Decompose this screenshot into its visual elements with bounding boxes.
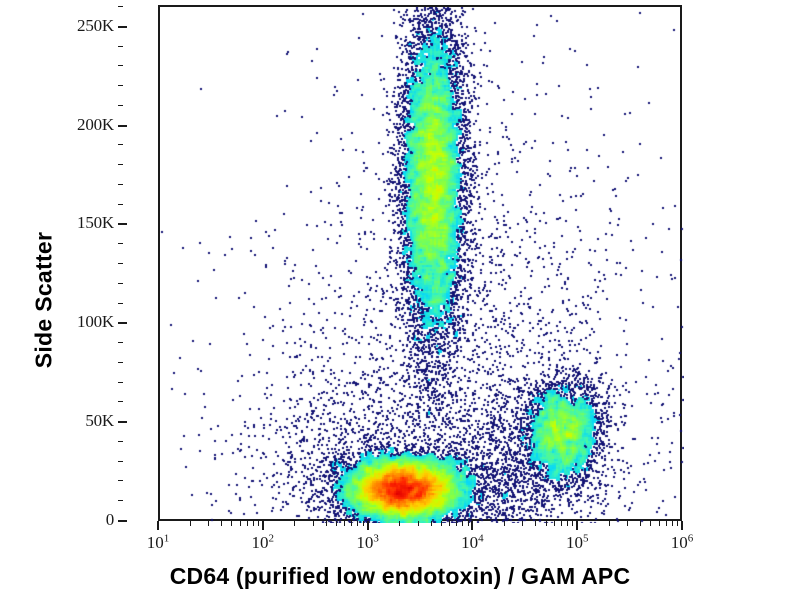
x-tick-mark <box>627 521 628 526</box>
x-tick-mark <box>399 521 400 526</box>
y-axis-label: Side Scatter <box>31 232 58 369</box>
x-tick-mark <box>253 521 254 526</box>
y-tick-mark <box>118 125 127 127</box>
y-tick-mark <box>118 461 123 462</box>
x-tick-mark <box>240 521 241 526</box>
x-tick-mark <box>576 521 578 530</box>
x-tick-mark <box>567 521 568 526</box>
x-tick-mark <box>344 521 345 526</box>
y-tick-label: 100K <box>77 312 114 332</box>
scatter-canvas <box>160 7 684 523</box>
y-tick-mark <box>118 421 127 423</box>
x-tick-mark <box>677 521 678 526</box>
y-tick-mark <box>118 322 127 324</box>
x-tick-mark <box>659 521 660 526</box>
x-tick-mark <box>672 521 673 526</box>
x-tick-mark <box>157 521 159 530</box>
x-tick-mark <box>554 521 555 526</box>
x-tick-mark <box>326 521 327 526</box>
flow-cytometry-dotplot: 050K100K150K200K250K 101102103104105106 … <box>0 0 800 600</box>
x-tick-mark <box>363 521 364 526</box>
x-tick-mark <box>418 521 419 526</box>
y-tick-mark <box>118 164 123 165</box>
y-tick-mark <box>118 500 123 501</box>
y-tick-mark <box>118 6 123 7</box>
y-tick-mark <box>118 223 127 225</box>
x-tick-mark <box>609 521 610 526</box>
y-tick-mark <box>118 144 123 145</box>
y-tick-mark <box>118 46 123 47</box>
y-tick-label: 0 <box>106 510 114 530</box>
y-tick-mark <box>118 303 123 304</box>
y-tick-mark <box>118 283 123 284</box>
x-tick-mark <box>535 521 536 526</box>
x-tick-mark <box>367 521 369 530</box>
x-tick-mark <box>546 521 547 526</box>
x-tick-mark <box>681 521 683 530</box>
y-tick-mark <box>118 263 123 264</box>
x-tick-label: 104 <box>461 533 484 553</box>
x-tick-mark <box>357 521 358 526</box>
x-tick-mark <box>431 521 432 526</box>
y-tick-mark <box>118 105 123 106</box>
y-tick-label: 150K <box>77 213 114 233</box>
x-tick-mark <box>294 521 295 526</box>
x-tick-mark <box>231 521 232 526</box>
x-tick-mark <box>190 521 191 526</box>
plot-area <box>158 5 682 521</box>
y-tick-mark <box>118 65 123 66</box>
x-tick-mark <box>522 521 523 526</box>
x-tick-mark <box>468 521 469 526</box>
x-tick-mark <box>247 521 248 526</box>
y-tick-mark <box>118 362 123 363</box>
x-tick-label: 105 <box>566 533 589 553</box>
y-tick-mark <box>118 520 127 522</box>
y-tick-mark <box>118 401 123 402</box>
x-tick-mark <box>462 521 463 526</box>
x-tick-label: 102 <box>252 533 275 553</box>
y-tick-mark <box>118 85 123 86</box>
y-tick-mark <box>118 184 123 185</box>
x-tick-mark <box>441 521 442 526</box>
x-tick-mark <box>449 521 450 526</box>
x-tick-mark <box>221 521 222 526</box>
y-tick-mark <box>118 342 123 343</box>
y-tick-mark <box>118 480 123 481</box>
x-tick-mark <box>640 521 641 526</box>
y-tick-mark <box>118 204 123 205</box>
y-tick-mark <box>118 26 127 28</box>
x-tick-label: 106 <box>671 533 694 553</box>
x-tick-mark <box>650 521 651 526</box>
y-tick-mark <box>118 441 123 442</box>
x-tick-mark <box>471 521 473 530</box>
x-tick-label: 103 <box>356 533 379 553</box>
x-tick-mark <box>262 521 264 530</box>
y-tick-mark <box>118 243 123 244</box>
x-axis-label: CD64 (purified low endotoxin) / GAM APC <box>0 563 800 590</box>
x-tick-mark <box>666 521 667 526</box>
x-tick-mark <box>336 521 337 526</box>
y-tick-mark <box>118 382 123 383</box>
x-tick-mark <box>504 521 505 526</box>
x-tick-mark <box>561 521 562 526</box>
x-tick-mark <box>313 521 314 526</box>
y-tick-label: 50K <box>85 411 114 431</box>
x-tick-mark <box>208 521 209 526</box>
y-tick-label: 200K <box>77 115 114 135</box>
x-tick-label: 101 <box>147 533 170 553</box>
x-tick-mark <box>351 521 352 526</box>
x-tick-mark <box>258 521 259 526</box>
y-tick-label: 250K <box>77 16 114 36</box>
x-tick-mark <box>572 521 573 526</box>
x-tick-mark <box>456 521 457 526</box>
